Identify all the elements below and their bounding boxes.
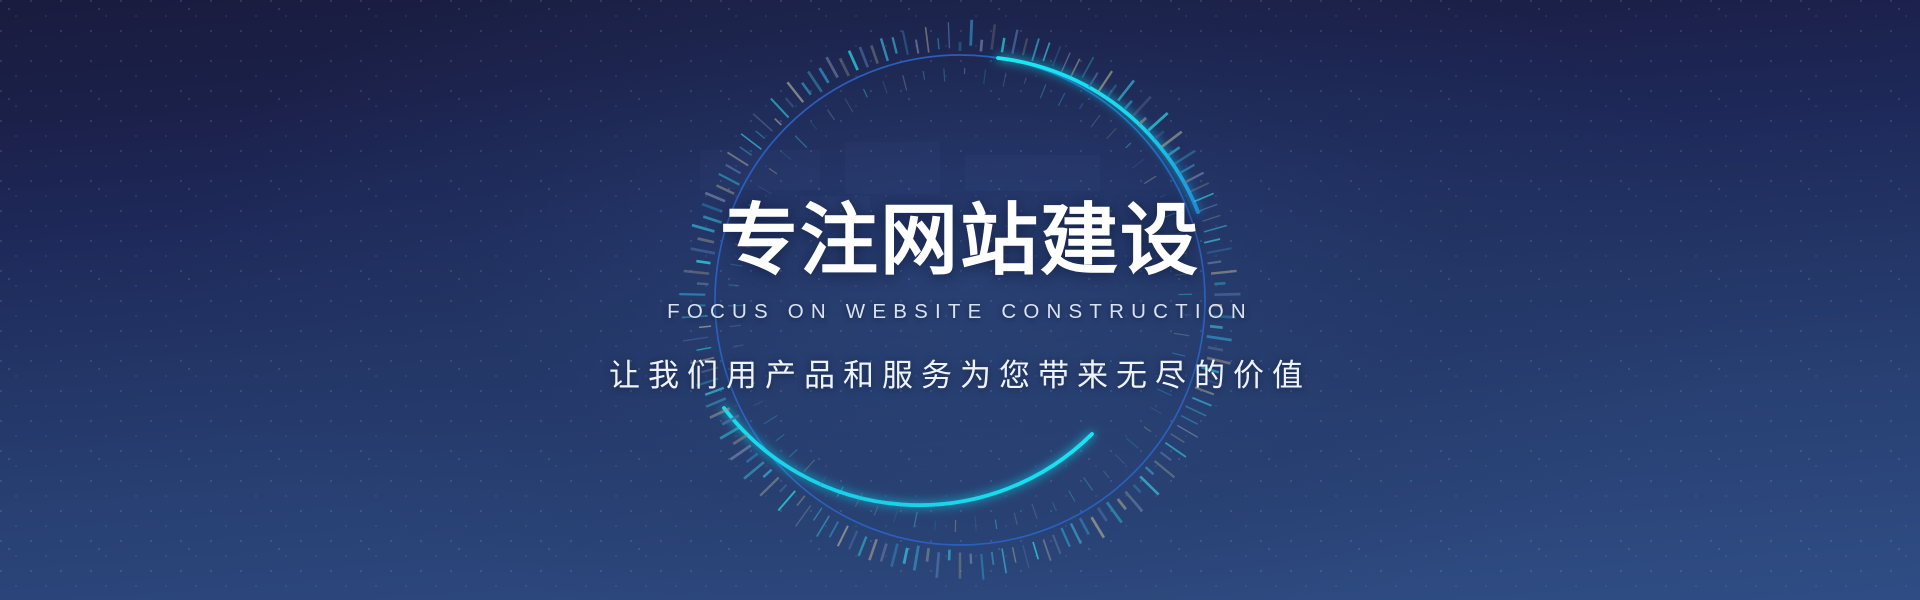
page-title: 专注网站建设 — [720, 201, 1200, 279]
hero-banner: 专注网站建设 FOCUS ON WEBSITE CONSTRUCTION 让我们… — [0, 0, 1920, 600]
hero-text-block: 专注网站建设 FOCUS ON WEBSITE CONSTRUCTION 让我们… — [0, 0, 1920, 600]
subtitle-english: FOCUS ON WEBSITE CONSTRUCTION — [667, 300, 1253, 324]
tagline-chinese: 让我们用产品和服务为您带来无尽的价值 — [609, 350, 1311, 395]
